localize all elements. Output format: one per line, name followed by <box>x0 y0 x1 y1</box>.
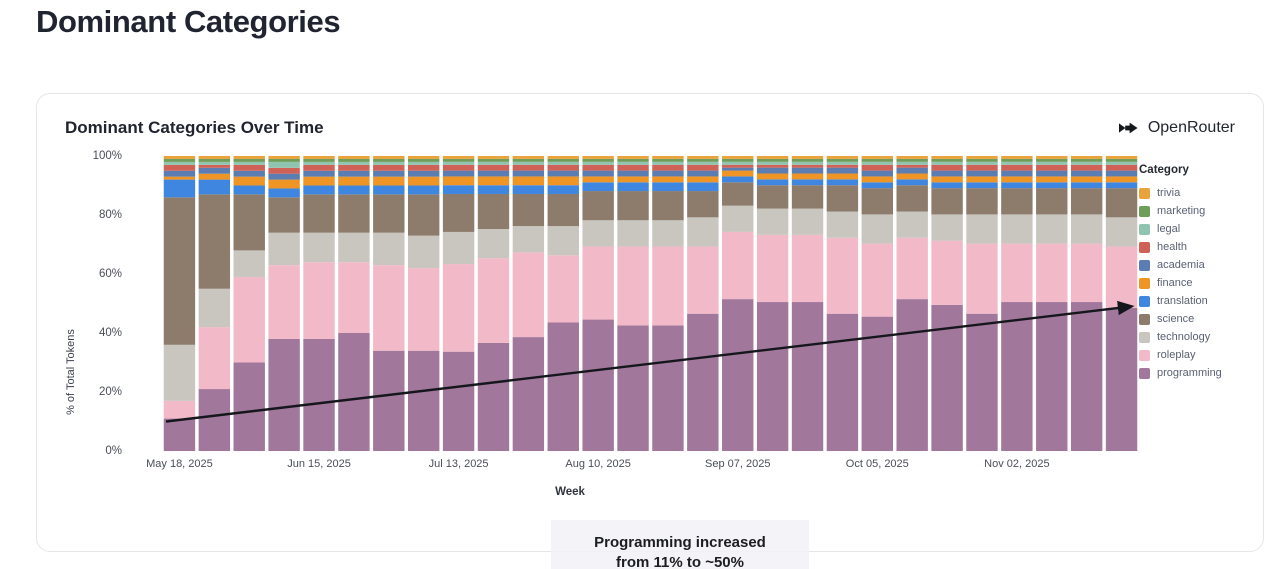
bar-segment[interactable] <box>408 171 439 177</box>
bar-segment[interactable] <box>1036 244 1067 302</box>
bar-segment[interactable] <box>234 159 265 162</box>
bar-segment[interactable] <box>931 188 962 214</box>
bar-segment[interactable] <box>478 343 509 451</box>
bar-segment[interactable] <box>199 174 230 180</box>
bar-segment[interactable] <box>652 247 683 326</box>
bar-segment[interactable] <box>268 168 299 174</box>
bar-segment[interactable] <box>1106 156 1137 159</box>
bar-segment[interactable] <box>164 345 195 401</box>
bar-segment[interactable] <box>303 177 334 186</box>
bar-segment[interactable] <box>1106 308 1137 451</box>
legend-item-health[interactable]: health <box>1139 238 1261 256</box>
bar-segment[interactable] <box>338 165 369 171</box>
bar-segment[interactable] <box>303 159 334 162</box>
bar-segment[interactable] <box>303 171 334 177</box>
bar-segment[interactable] <box>164 156 195 159</box>
bar-segment[interactable] <box>1106 247 1137 308</box>
bar-segment[interactable] <box>652 182 683 191</box>
bar-segment[interactable] <box>1001 176 1032 182</box>
bar-segment[interactable] <box>338 162 369 165</box>
bar-segment[interactable] <box>757 174 788 180</box>
bar-segment[interactable] <box>478 185 509 194</box>
bar-segment[interactable] <box>617 162 648 165</box>
bar-segment[interactable] <box>164 180 195 198</box>
bar-segment[interactable] <box>373 194 404 232</box>
bar-segment[interactable] <box>408 162 439 165</box>
bar-segment[interactable] <box>1036 302 1067 451</box>
bar-segment[interactable] <box>548 162 579 165</box>
bar-segment[interactable] <box>548 255 579 322</box>
bar-segment[interactable] <box>1071 244 1102 302</box>
bar-segment[interactable] <box>652 171 683 177</box>
bar-segment[interactable] <box>164 419 195 451</box>
legend-item-academia[interactable]: academia <box>1139 256 1261 274</box>
bar-segment[interactable] <box>478 229 509 258</box>
bar-segment[interactable] <box>1106 171 1137 177</box>
bar-segment[interactable] <box>1106 176 1137 182</box>
bar-segment[interactable] <box>443 232 474 264</box>
bar-segment[interactable] <box>966 244 997 314</box>
bar-segment[interactable] <box>687 156 718 159</box>
bar-segment[interactable] <box>373 265 404 351</box>
bar-segment[interactable] <box>792 235 823 302</box>
bar-segment[interactable] <box>792 179 823 185</box>
bar-segment[interactable] <box>513 337 544 451</box>
bar-segment[interactable] <box>234 171 265 177</box>
legend-item-programming[interactable]: programming <box>1139 364 1261 382</box>
bar-segment[interactable] <box>1106 188 1137 217</box>
bar-segment[interactable] <box>827 179 858 185</box>
bar-segment[interactable] <box>757 159 788 162</box>
bar-segment[interactable] <box>408 156 439 159</box>
bar-segment[interactable] <box>687 159 718 162</box>
bar-segment[interactable] <box>268 156 299 159</box>
bar-segment[interactable] <box>199 159 230 162</box>
bar-segment[interactable] <box>862 156 893 159</box>
bar-segment[interactable] <box>617 165 648 171</box>
bar-segment[interactable] <box>896 212 927 238</box>
bar-segment[interactable] <box>234 250 265 277</box>
bar-segment[interactable] <box>513 165 544 171</box>
bar-segment[interactable] <box>1071 176 1102 182</box>
bar-segment[interactable] <box>303 165 334 171</box>
bar-segment[interactable] <box>617 156 648 159</box>
bar-segment[interactable] <box>617 182 648 191</box>
bar-segment[interactable] <box>268 162 299 168</box>
legend-item-technology[interactable]: technology <box>1139 328 1261 346</box>
bar-segment[interactable] <box>862 176 893 182</box>
bar-segment[interactable] <box>827 185 858 211</box>
bar-segment[interactable] <box>966 171 997 177</box>
bar-segment[interactable] <box>268 197 299 232</box>
bar-segment[interactable] <box>199 156 230 159</box>
bar-segment[interactable] <box>722 162 753 165</box>
legend-item-finance[interactable]: finance <box>1139 274 1261 292</box>
bar-segment[interactable] <box>408 236 439 268</box>
bar-segment[interactable] <box>1001 188 1032 214</box>
bar-segment[interactable] <box>582 182 613 191</box>
bar-segment[interactable] <box>722 159 753 162</box>
bar-segment[interactable] <box>408 159 439 162</box>
bar-segment[interactable] <box>199 194 230 288</box>
bar-segment[interactable] <box>408 351 439 451</box>
bar-segment[interactable] <box>199 165 230 168</box>
bar-segment[interactable] <box>827 314 858 451</box>
bar-segment[interactable] <box>1071 159 1102 162</box>
bar-segment[interactable] <box>234 165 265 171</box>
bar-segment[interactable] <box>513 226 544 252</box>
bar-segment[interactable] <box>582 162 613 165</box>
bar-segment[interactable] <box>408 194 439 235</box>
bar-segment[interactable] <box>617 247 648 326</box>
bar-segment[interactable] <box>338 186 369 195</box>
bar-segment[interactable] <box>827 212 858 238</box>
bar-segment[interactable] <box>722 206 753 232</box>
bar-segment[interactable] <box>792 156 823 159</box>
bar-segment[interactable] <box>722 171 753 177</box>
bar-segment[interactable] <box>966 165 997 171</box>
bar-segment[interactable] <box>1036 171 1067 177</box>
bar-segment[interactable] <box>373 351 404 451</box>
bar-segment[interactable] <box>373 177 404 186</box>
bar-segment[interactable] <box>478 194 509 229</box>
bar-segment[interactable] <box>164 162 195 165</box>
bar-segment[interactable] <box>652 191 683 220</box>
bar-segment[interactable] <box>268 159 299 162</box>
bar-segment[interactable] <box>757 179 788 185</box>
bar-segment[interactable] <box>338 159 369 162</box>
bar-segment[interactable] <box>652 162 683 165</box>
bar-segment[interactable] <box>827 174 858 180</box>
bar-segment[interactable] <box>234 162 265 165</box>
bar-segment[interactable] <box>1001 162 1032 165</box>
bar-segment[interactable] <box>896 162 927 165</box>
bar-segment[interactable] <box>268 233 299 265</box>
bar-segment[interactable] <box>164 171 195 177</box>
bar-segment[interactable] <box>827 238 858 314</box>
bar-segment[interactable] <box>652 220 683 246</box>
bar-segment[interactable] <box>827 159 858 162</box>
bar-segment[interactable] <box>338 262 369 333</box>
bar-segment[interactable] <box>582 159 613 162</box>
bar-segment[interactable] <box>1071 171 1102 177</box>
bar-segment[interactable] <box>617 176 648 182</box>
bar-segment[interactable] <box>408 268 439 351</box>
bar-segment[interactable] <box>757 156 788 159</box>
bar-segment[interactable] <box>617 191 648 220</box>
bar-segment[interactable] <box>338 156 369 159</box>
bar-segment[interactable] <box>303 156 334 159</box>
bar-segment[interactable] <box>268 265 299 339</box>
bar-segment[interactable] <box>582 191 613 220</box>
bar-segment[interactable] <box>582 165 613 171</box>
bar-segment[interactable] <box>338 333 369 451</box>
legend-item-translation[interactable]: translation <box>1139 292 1261 310</box>
bar-segment[interactable] <box>966 188 997 214</box>
bar-segment[interactable] <box>757 235 788 302</box>
bar-segment[interactable] <box>338 194 369 232</box>
bar-segment[interactable] <box>1001 214 1032 243</box>
bar-segment[interactable] <box>582 220 613 246</box>
bar-segment[interactable] <box>548 322 579 451</box>
bar-segment[interactable] <box>722 299 753 451</box>
bar-segment[interactable] <box>757 302 788 451</box>
bar-segment[interactable] <box>1036 162 1067 165</box>
bar-segment[interactable] <box>1001 302 1032 451</box>
bar-segment[interactable] <box>827 165 858 168</box>
bar-segment[interactable] <box>582 156 613 159</box>
bar-segment[interactable] <box>373 186 404 195</box>
bar-segment[interactable] <box>1001 165 1032 171</box>
bar-segment[interactable] <box>234 177 265 186</box>
bar-segment[interactable] <box>722 232 753 299</box>
bar-segment[interactable] <box>931 165 962 171</box>
bar-segment[interactable] <box>373 165 404 171</box>
bar-segment[interactable] <box>1001 159 1032 162</box>
bar-segment[interactable] <box>513 171 544 177</box>
bar-segment[interactable] <box>652 159 683 162</box>
bar-segment[interactable] <box>582 171 613 177</box>
bar-segment[interactable] <box>687 182 718 191</box>
bar-segment[interactable] <box>443 352 474 451</box>
bar-segment[interactable] <box>408 177 439 186</box>
bar-segment[interactable] <box>792 162 823 165</box>
bar-segment[interactable] <box>652 156 683 159</box>
bar-segment[interactable] <box>687 217 718 246</box>
bar-segment[interactable] <box>1036 182 1067 188</box>
bar-segment[interactable] <box>722 156 753 159</box>
bar-segment[interactable] <box>931 241 962 305</box>
bar-segment[interactable] <box>199 180 230 195</box>
bar-segment[interactable] <box>338 177 369 186</box>
bar-segment[interactable] <box>862 214 893 243</box>
bar-segment[interactable] <box>722 168 753 171</box>
bar-segment[interactable] <box>443 159 474 162</box>
bar-segment[interactable] <box>548 156 579 159</box>
bar-segment[interactable] <box>338 171 369 177</box>
bar-segment[interactable] <box>757 209 788 235</box>
bar-segment[interactable] <box>513 252 544 337</box>
bar-segment[interactable] <box>373 162 404 165</box>
bar-segment[interactable] <box>652 325 683 451</box>
bar-segment[interactable] <box>513 185 544 194</box>
bar-segment[interactable] <box>199 389 230 451</box>
bar-segment[interactable] <box>164 197 195 344</box>
bar-segment[interactable] <box>931 182 962 188</box>
bar-segment[interactable] <box>827 156 858 159</box>
bar-segment[interactable] <box>234 194 265 250</box>
bar-segment[interactable] <box>1106 165 1137 171</box>
bar-segment[interactable] <box>722 176 753 182</box>
bar-segment[interactable] <box>1036 156 1067 159</box>
bar-segment[interactable] <box>862 165 893 171</box>
bar-segment[interactable] <box>792 209 823 235</box>
bar-segment[interactable] <box>722 165 753 168</box>
legend-item-science[interactable]: science <box>1139 310 1261 328</box>
bar-segment[interactable] <box>1071 214 1102 243</box>
bar-segment[interactable] <box>478 176 509 185</box>
bar-segment[interactable] <box>827 168 858 174</box>
bar-segment[interactable] <box>687 162 718 165</box>
bar-segment[interactable] <box>896 299 927 451</box>
bar-segment[interactable] <box>792 185 823 208</box>
bar-segment[interactable] <box>792 159 823 162</box>
bar-segment[interactable] <box>862 159 893 162</box>
bar-segment[interactable] <box>792 168 823 174</box>
bar-segment[interactable] <box>1071 188 1102 214</box>
bar-segment[interactable] <box>234 363 265 452</box>
bar-segment[interactable] <box>1071 162 1102 165</box>
bar-segment[interactable] <box>617 325 648 451</box>
bar-segment[interactable] <box>478 162 509 165</box>
bar-segment[interactable] <box>652 165 683 171</box>
bar-segment[interactable] <box>966 159 997 162</box>
bar-segment[interactable] <box>966 214 997 243</box>
bar-segment[interactable] <box>757 185 788 208</box>
bar-segment[interactable] <box>164 165 195 171</box>
bar-segment[interactable] <box>687 191 718 217</box>
bar-segment[interactable] <box>757 168 788 174</box>
bar-segment[interactable] <box>862 188 893 214</box>
bar-segment[interactable] <box>896 165 927 168</box>
bar-segment[interactable] <box>478 156 509 159</box>
bar-segment[interactable] <box>513 159 544 162</box>
bar-segment[interactable] <box>722 182 753 205</box>
bar-segment[interactable] <box>443 171 474 177</box>
bar-segment[interactable] <box>687 165 718 171</box>
bar-segment[interactable] <box>548 165 579 171</box>
bar-segment[interactable] <box>966 314 997 451</box>
bar-segment[interactable] <box>792 174 823 180</box>
bar-segment[interactable] <box>687 176 718 182</box>
bar-segment[interactable] <box>896 185 927 211</box>
bar-segment[interactable] <box>582 247 613 320</box>
bar-segment[interactable] <box>652 176 683 182</box>
bar-segment[interactable] <box>966 182 997 188</box>
bar-segment[interactable] <box>862 182 893 188</box>
bar-segment[interactable] <box>478 165 509 171</box>
bar-segment[interactable] <box>1106 182 1137 188</box>
bar-segment[interactable] <box>268 180 299 189</box>
bar-segment[interactable] <box>757 162 788 165</box>
legend-item-trivia[interactable]: trivia <box>1139 184 1261 202</box>
bar-segment[interactable] <box>1036 188 1067 214</box>
bar-segment[interactable] <box>478 159 509 162</box>
bar-segment[interactable] <box>199 162 230 165</box>
bar-segment[interactable] <box>408 165 439 171</box>
bar-segment[interactable] <box>582 320 613 451</box>
bar-segment[interactable] <box>373 159 404 162</box>
bar-segment[interactable] <box>792 165 823 168</box>
bar-segment[interactable] <box>443 176 474 185</box>
bar-segment[interactable] <box>443 194 474 232</box>
bar-segment[interactable] <box>1036 214 1067 243</box>
legend-item-legal[interactable]: legal <box>1139 220 1261 238</box>
bar-segment[interactable] <box>966 176 997 182</box>
bar-segment[interactable] <box>931 176 962 182</box>
bar-segment[interactable] <box>1071 302 1102 451</box>
bar-segment[interactable] <box>896 179 927 185</box>
bar-segment[interactable] <box>199 168 230 174</box>
bar-segment[interactable] <box>303 339 334 451</box>
bar-segment[interactable] <box>443 156 474 159</box>
bar-segment[interactable] <box>443 264 474 352</box>
bar-segment[interactable] <box>931 214 962 240</box>
bar-segment[interactable] <box>966 162 997 165</box>
bar-segment[interactable] <box>513 156 544 159</box>
bar-segment[interactable] <box>617 159 648 162</box>
bar-segment[interactable] <box>548 176 579 185</box>
bar-segment[interactable] <box>1001 244 1032 302</box>
bar-segment[interactable] <box>931 171 962 177</box>
bar-segment[interactable] <box>199 289 230 327</box>
bar-segment[interactable] <box>896 168 927 174</box>
bar-segment[interactable] <box>548 185 579 194</box>
bar-segment[interactable] <box>966 156 997 159</box>
bar-segment[interactable] <box>757 165 788 168</box>
bar-segment[interactable] <box>373 171 404 177</box>
bar-segment[interactable] <box>373 156 404 159</box>
bar-segment[interactable] <box>443 185 474 194</box>
bar-segment[interactable] <box>164 177 195 180</box>
bar-segment[interactable] <box>862 162 893 165</box>
bar-segment[interactable] <box>548 226 579 255</box>
bar-segment[interactable] <box>931 162 962 165</box>
bar-segment[interactable] <box>268 339 299 451</box>
bar-segment[interactable] <box>931 156 962 159</box>
bar-segment[interactable] <box>896 238 927 299</box>
bar-segment[interactable] <box>234 277 265 363</box>
bar-segment[interactable] <box>338 233 369 263</box>
bar-segment[interactable] <box>1001 182 1032 188</box>
legend-item-roleplay[interactable]: roleplay <box>1139 346 1261 364</box>
bar-segment[interactable] <box>931 159 962 162</box>
bar-segment[interactable] <box>199 327 230 389</box>
bar-segment[interactable] <box>1106 159 1137 162</box>
bar-segment[interactable] <box>687 314 718 451</box>
bar-segment[interactable] <box>408 186 439 195</box>
bar-segment[interactable] <box>1001 156 1032 159</box>
bar-segment[interactable] <box>268 174 299 180</box>
bar-segment[interactable] <box>478 258 509 343</box>
bar-segment[interactable] <box>1001 171 1032 177</box>
bar-segment[interactable] <box>478 171 509 177</box>
bar-segment[interactable] <box>303 233 334 263</box>
bar-segment[interactable] <box>896 159 927 162</box>
bar-segment[interactable] <box>548 159 579 162</box>
bar-segment[interactable] <box>862 244 893 317</box>
bar-segment[interactable] <box>896 174 927 180</box>
bar-segment[interactable] <box>1036 176 1067 182</box>
bar-segment[interactable] <box>164 401 195 419</box>
bar-segment[interactable] <box>548 171 579 177</box>
bar-segment[interactable] <box>1106 217 1137 246</box>
bar-segment[interactable] <box>1071 165 1102 171</box>
bar-segment[interactable] <box>513 194 544 226</box>
bar-segment[interactable] <box>1036 159 1067 162</box>
bar-segment[interactable] <box>373 233 404 265</box>
bar-segment[interactable] <box>164 159 195 162</box>
bar-segment[interactable] <box>303 186 334 195</box>
bar-segment[interactable] <box>1071 156 1102 159</box>
bar-segment[interactable] <box>792 302 823 451</box>
bar-segment[interactable] <box>513 176 544 185</box>
bar-segment[interactable] <box>1106 162 1137 165</box>
legend-item-marketing[interactable]: marketing <box>1139 202 1261 220</box>
bar-segment[interactable] <box>617 171 648 177</box>
bar-segment[interactable] <box>443 165 474 171</box>
bar-segment[interactable] <box>303 194 334 232</box>
